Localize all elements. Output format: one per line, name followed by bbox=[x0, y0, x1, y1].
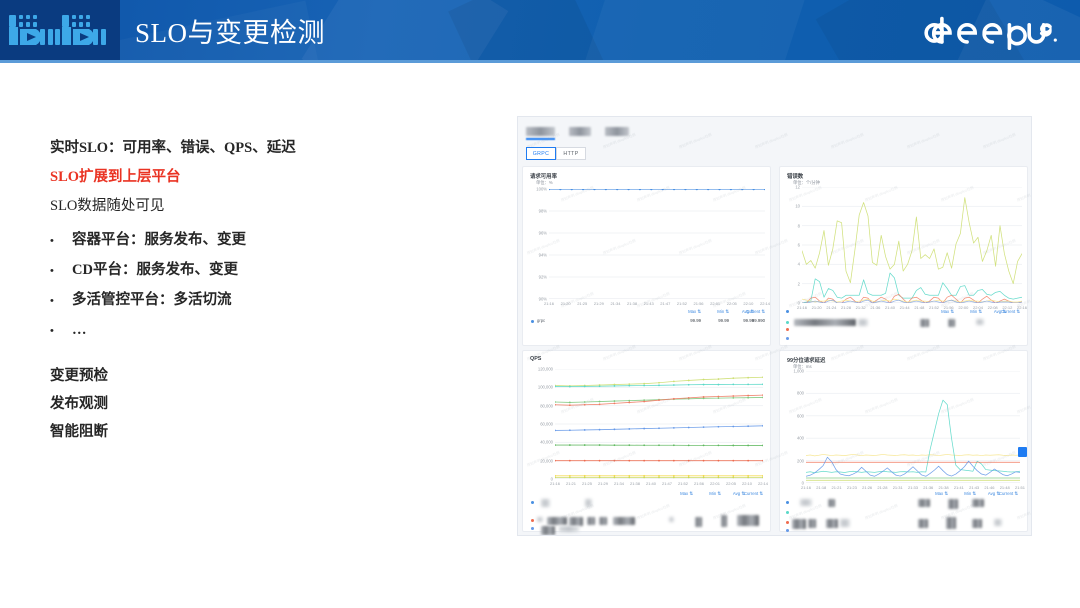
redacted-label bbox=[972, 499, 984, 507]
redacted-label bbox=[948, 499, 958, 509]
legend-color-dot bbox=[786, 529, 789, 532]
x-axis-tick: 21:29 bbox=[594, 301, 604, 306]
text-line: SLO数据随处可见 bbox=[50, 192, 470, 221]
legend-color-dot bbox=[531, 519, 534, 522]
slide-header: SLO与变更检测 bbox=[0, 0, 1080, 63]
x-axis-tick: 22:01 bbox=[710, 301, 720, 306]
chart-unit-label: 单位：% bbox=[536, 180, 553, 186]
y-axis-tick: 96% bbox=[523, 231, 547, 236]
x-axis-tick: 21:43 bbox=[644, 301, 654, 306]
x-axis-tick: 21:16 bbox=[550, 481, 560, 486]
stat-value: 99.99 bbox=[703, 318, 729, 323]
bullet-label: 容器平台：服务发布、变更 bbox=[72, 226, 246, 255]
y-axis-tick: 98% bbox=[523, 209, 547, 214]
redacted-label bbox=[948, 319, 955, 327]
redacted-label bbox=[541, 526, 555, 535]
stat-column-header[interactable]: Min ⇅ bbox=[695, 491, 721, 497]
redacted-label bbox=[569, 517, 583, 526]
bilibili-logo bbox=[0, 0, 120, 60]
x-axis-tick: 21:28 bbox=[841, 305, 851, 310]
x-axis-tick: 21:36 bbox=[923, 485, 933, 490]
x-axis-tick: 22:10 bbox=[742, 481, 752, 486]
bullet-label: … bbox=[72, 316, 87, 345]
y-axis-tick: 120,000 bbox=[523, 367, 553, 372]
redacted-label bbox=[840, 519, 850, 527]
x-axis-tick: 22:14 bbox=[758, 481, 768, 486]
dashboard-tab-bar[interactable] bbox=[526, 123, 629, 139]
legend-color-dot bbox=[786, 328, 789, 331]
watermark: 原创声明 dbaplus社群 bbox=[982, 133, 1016, 151]
y-axis-tick: 200 bbox=[780, 458, 804, 463]
redacted-label bbox=[585, 499, 592, 507]
legend-color-dot bbox=[786, 321, 789, 324]
redacted-label bbox=[828, 499, 835, 507]
x-axis-tick: 21:20 bbox=[561, 301, 571, 306]
y-axis-tick: 8 bbox=[780, 223, 800, 228]
redacted-label bbox=[541, 499, 550, 507]
x-axis-tick: 21:41 bbox=[954, 485, 964, 490]
bullet-marker: • bbox=[50, 257, 72, 286]
y-axis-tick: 10 bbox=[780, 204, 800, 209]
x-axis-tick: 21:36 bbox=[870, 305, 880, 310]
watermark: 原创声明 dbaplus社群 bbox=[754, 133, 788, 151]
bullet-marker: • bbox=[50, 227, 72, 256]
bullet-item: • … bbox=[50, 316, 470, 346]
stat-column-header[interactable]: Max ⇅ bbox=[675, 309, 701, 315]
stat-column-header[interactable]: Current ⇅ bbox=[994, 309, 1020, 315]
protocol-option-http[interactable]: HTTP bbox=[556, 147, 586, 160]
y-axis-tick: 2 bbox=[780, 281, 800, 286]
x-axis-tick: 21:43 bbox=[969, 485, 979, 490]
redacted-label bbox=[994, 519, 1002, 526]
text-line-highlight: SLO扩展到上层平台 bbox=[50, 163, 470, 192]
stat-column-header[interactable]: Min ⇅ bbox=[703, 309, 729, 315]
x-axis-tick: 21:24 bbox=[826, 305, 836, 310]
x-axis-tick: 21:47 bbox=[662, 481, 672, 486]
legend-color-dot bbox=[786, 521, 789, 524]
x-axis-tick: 21:16 bbox=[797, 305, 807, 310]
chart-title: 错误数 bbox=[787, 172, 803, 180]
text-line: 实时SLO：可用率、错误、QPS、延迟 bbox=[50, 134, 470, 163]
y-axis-tick: 40,000 bbox=[523, 440, 553, 445]
bullet-item: • CD平台：服务发布、变更 bbox=[50, 256, 470, 286]
redacted-label bbox=[794, 319, 856, 326]
x-axis-tick: 21:25 bbox=[577, 301, 587, 306]
bullet-marker: • bbox=[50, 287, 72, 316]
y-axis-tick: 92% bbox=[523, 275, 547, 280]
x-axis-tick: 21:28 bbox=[877, 485, 887, 490]
content-text-block-2: 变更预检 发布观测 智能阻断 bbox=[50, 362, 350, 446]
x-axis-tick: 21:47 bbox=[660, 301, 670, 306]
redacted-label bbox=[599, 517, 607, 525]
redacted-label bbox=[972, 519, 982, 528]
y-axis-tick: 1,000 bbox=[780, 369, 804, 374]
active-tab-indicator bbox=[526, 138, 555, 140]
x-axis-tick: 21:52 bbox=[678, 481, 688, 486]
watermark: 原创声明 dbaplus社群 bbox=[830, 133, 864, 151]
bullet-label: CD平台：服务发布、变更 bbox=[72, 256, 238, 285]
redacted-label bbox=[613, 517, 635, 525]
text-line: 智能阻断 bbox=[50, 418, 350, 446]
stat-value: 99.99 bbox=[675, 318, 701, 323]
redacted-label bbox=[559, 526, 579, 532]
stat-column-header[interactable]: Current ⇅ bbox=[737, 491, 763, 497]
x-axis-tick: 21:23 bbox=[847, 485, 857, 490]
chart-panel-latency: 99分位请求延迟 单位：ms 02004006008001,000 21:162… bbox=[779, 350, 1028, 532]
page-title: SLO与变更检测 bbox=[135, 11, 325, 50]
x-axis-tick: 21:25 bbox=[582, 481, 592, 486]
y-axis-tick: 94% bbox=[523, 253, 547, 258]
stat-column-header[interactable]: Min ⇅ bbox=[950, 491, 976, 497]
x-axis-tick: 21:56 bbox=[694, 301, 704, 306]
y-axis-tick: 100% bbox=[523, 187, 547, 192]
chart-panel-availability: 请求可用率 单位：% 90%92%94%96%98%100% 21:1621:2… bbox=[522, 166, 771, 346]
bullet-item: • 多活管控平台：多活切流 bbox=[50, 286, 470, 316]
x-axis-tick: 21:40 bbox=[646, 481, 656, 486]
watermark: 原创声明 dbaplus社群 bbox=[906, 133, 940, 151]
dashboard-screenshot: GRPC HTTP 请求可用率 单位：% 90%92%94%96%98%100%… bbox=[517, 116, 1032, 536]
redacted-label bbox=[858, 319, 868, 326]
legend-color-dot bbox=[786, 310, 789, 313]
chart-title: 请求可用率 bbox=[530, 172, 557, 180]
x-axis-tick: 21:33 bbox=[908, 485, 918, 490]
redacted-label bbox=[721, 515, 727, 527]
x-axis-tick: 21:18 bbox=[816, 485, 826, 490]
stat-column-header[interactable]: Min ⇅ bbox=[956, 309, 982, 315]
errors-plot bbox=[802, 187, 1022, 303]
legend-color-dot bbox=[786, 511, 789, 514]
y-axis-tick: 0 bbox=[523, 477, 553, 482]
chart-panel-errors: 错误数 单位：个/分钟 024681012 21:1621:2021:2421:… bbox=[779, 166, 1028, 346]
dashboard-tab[interactable] bbox=[526, 127, 555, 136]
x-axis-tick: 21:48 bbox=[1000, 485, 1010, 490]
x-axis-tick: 21:21 bbox=[566, 481, 576, 486]
x-axis-tick: 21:29 bbox=[598, 481, 608, 486]
redacted-label bbox=[918, 499, 930, 507]
x-axis-tick: 21:20 bbox=[812, 305, 822, 310]
y-axis-tick: 60,000 bbox=[523, 422, 553, 427]
x-axis-tick: 22:05 bbox=[727, 301, 737, 306]
x-axis-tick: 21:16 bbox=[544, 301, 554, 306]
x-axis-tick: 21:52 bbox=[677, 301, 687, 306]
x-axis-tick: 21:46 bbox=[984, 485, 994, 490]
dashboard-tab[interactable] bbox=[569, 127, 591, 136]
x-axis-tick: 21:31 bbox=[893, 485, 903, 490]
redacted-label bbox=[918, 519, 928, 528]
legend-color-dot bbox=[786, 501, 789, 504]
x-axis-tick: 21:38 bbox=[939, 485, 949, 490]
chart-title: QPS bbox=[530, 356, 541, 362]
x-axis-tick: 21:38 bbox=[630, 481, 640, 486]
redacted-label bbox=[800, 499, 812, 506]
x-axis-tick: 22:01 bbox=[710, 481, 720, 486]
y-axis-tick: 600 bbox=[780, 413, 804, 418]
x-axis-tick: 22:10 bbox=[743, 301, 753, 306]
x-axis-tick: 21:48 bbox=[914, 305, 924, 310]
y-axis-tick: 20,000 bbox=[523, 458, 553, 463]
x-axis-tick: 22:05 bbox=[726, 481, 736, 486]
stat-value: 99.990 bbox=[739, 318, 765, 323]
header-facet bbox=[580, 0, 810, 63]
latency-plot bbox=[806, 371, 1020, 483]
x-axis-tick: 21:38 bbox=[627, 301, 637, 306]
chart-title: 99分位请求延迟 bbox=[787, 356, 825, 364]
legend-color-dot bbox=[531, 527, 534, 530]
content-text-block: 实时SLO：可用率、错误、QPS、延迟 SLO扩展到上层平台 SLO数据随处可见… bbox=[50, 134, 470, 346]
x-axis-tick: 21:16 bbox=[801, 485, 811, 490]
legend-series-name: grpc bbox=[537, 318, 545, 323]
x-axis-tick: 21:51 bbox=[1015, 485, 1025, 490]
bullet-item: • 容器平台：服务发布、变更 bbox=[50, 226, 470, 256]
legend-color-dot bbox=[531, 320, 534, 323]
y-axis-tick: 100,000 bbox=[523, 385, 553, 390]
y-axis-tick: 4 bbox=[780, 262, 800, 267]
x-axis-tick: 21:21 bbox=[832, 485, 842, 490]
deeplus-logo bbox=[923, 14, 1058, 50]
legend-color-dot bbox=[786, 337, 789, 340]
x-axis-tick: 21:44 bbox=[900, 305, 910, 310]
protocol-option-grpc[interactable]: GRPC bbox=[526, 147, 556, 160]
chart-panel-qps: QPS 020,00040,00060,00080,000100,000120,… bbox=[522, 350, 771, 532]
y-axis-tick: 400 bbox=[780, 436, 804, 441]
stat-column-header[interactable]: Max ⇅ bbox=[667, 491, 693, 497]
stat-column-header[interactable]: Max ⇅ bbox=[928, 309, 954, 315]
redacted-label bbox=[808, 519, 816, 528]
text-line: 发布观测 bbox=[50, 390, 350, 418]
redacted-label bbox=[792, 519, 806, 529]
bullet-marker: • bbox=[50, 317, 72, 346]
redacted-label bbox=[737, 515, 759, 526]
redacted-label bbox=[976, 319, 984, 325]
stat-column-header[interactable]: Current ⇅ bbox=[992, 491, 1018, 497]
x-axis-tick: 21:34 bbox=[614, 481, 624, 486]
stat-column-header[interactable]: Current ⇅ bbox=[739, 309, 765, 315]
dashboard-tab[interactable] bbox=[605, 127, 629, 136]
stat-column-header[interactable]: Max ⇅ bbox=[922, 491, 948, 497]
redacted-label bbox=[826, 519, 838, 528]
text-line: 变更预检 bbox=[50, 362, 350, 390]
y-axis-tick: 6 bbox=[780, 243, 800, 248]
x-axis-tick: 21:34 bbox=[610, 301, 620, 306]
y-axis-tick: 12 bbox=[780, 185, 800, 190]
legend-color-dot bbox=[531, 501, 534, 504]
redacted-label bbox=[695, 517, 702, 527]
redacted-label bbox=[946, 517, 956, 529]
watermark: 原创声明 dbaplus社群 bbox=[678, 133, 712, 151]
x-axis-tick: 21:32 bbox=[856, 305, 866, 310]
y-axis-tick: 80,000 bbox=[523, 403, 553, 408]
x-axis-tick: 21:56 bbox=[694, 481, 704, 486]
redacted-label bbox=[537, 517, 543, 522]
y-axis-tick: 800 bbox=[780, 391, 804, 396]
redacted-label bbox=[669, 517, 674, 522]
qps-plot bbox=[555, 369, 763, 479]
hover-tooltip-chip bbox=[1018, 447, 1027, 457]
redacted-label bbox=[920, 319, 929, 327]
x-axis-tick: 22:14 bbox=[760, 301, 770, 306]
x-axis-tick: 21:40 bbox=[885, 305, 895, 310]
x-axis-tick: 21:26 bbox=[862, 485, 872, 490]
protocol-toggle[interactable]: GRPC HTTP bbox=[526, 147, 586, 160]
redacted-label bbox=[547, 517, 567, 525]
availability-plot bbox=[549, 189, 765, 299]
bullet-label: 多活管控平台：多活切流 bbox=[72, 286, 232, 315]
redacted-label bbox=[587, 517, 595, 525]
header-accent-line bbox=[0, 60, 1080, 63]
